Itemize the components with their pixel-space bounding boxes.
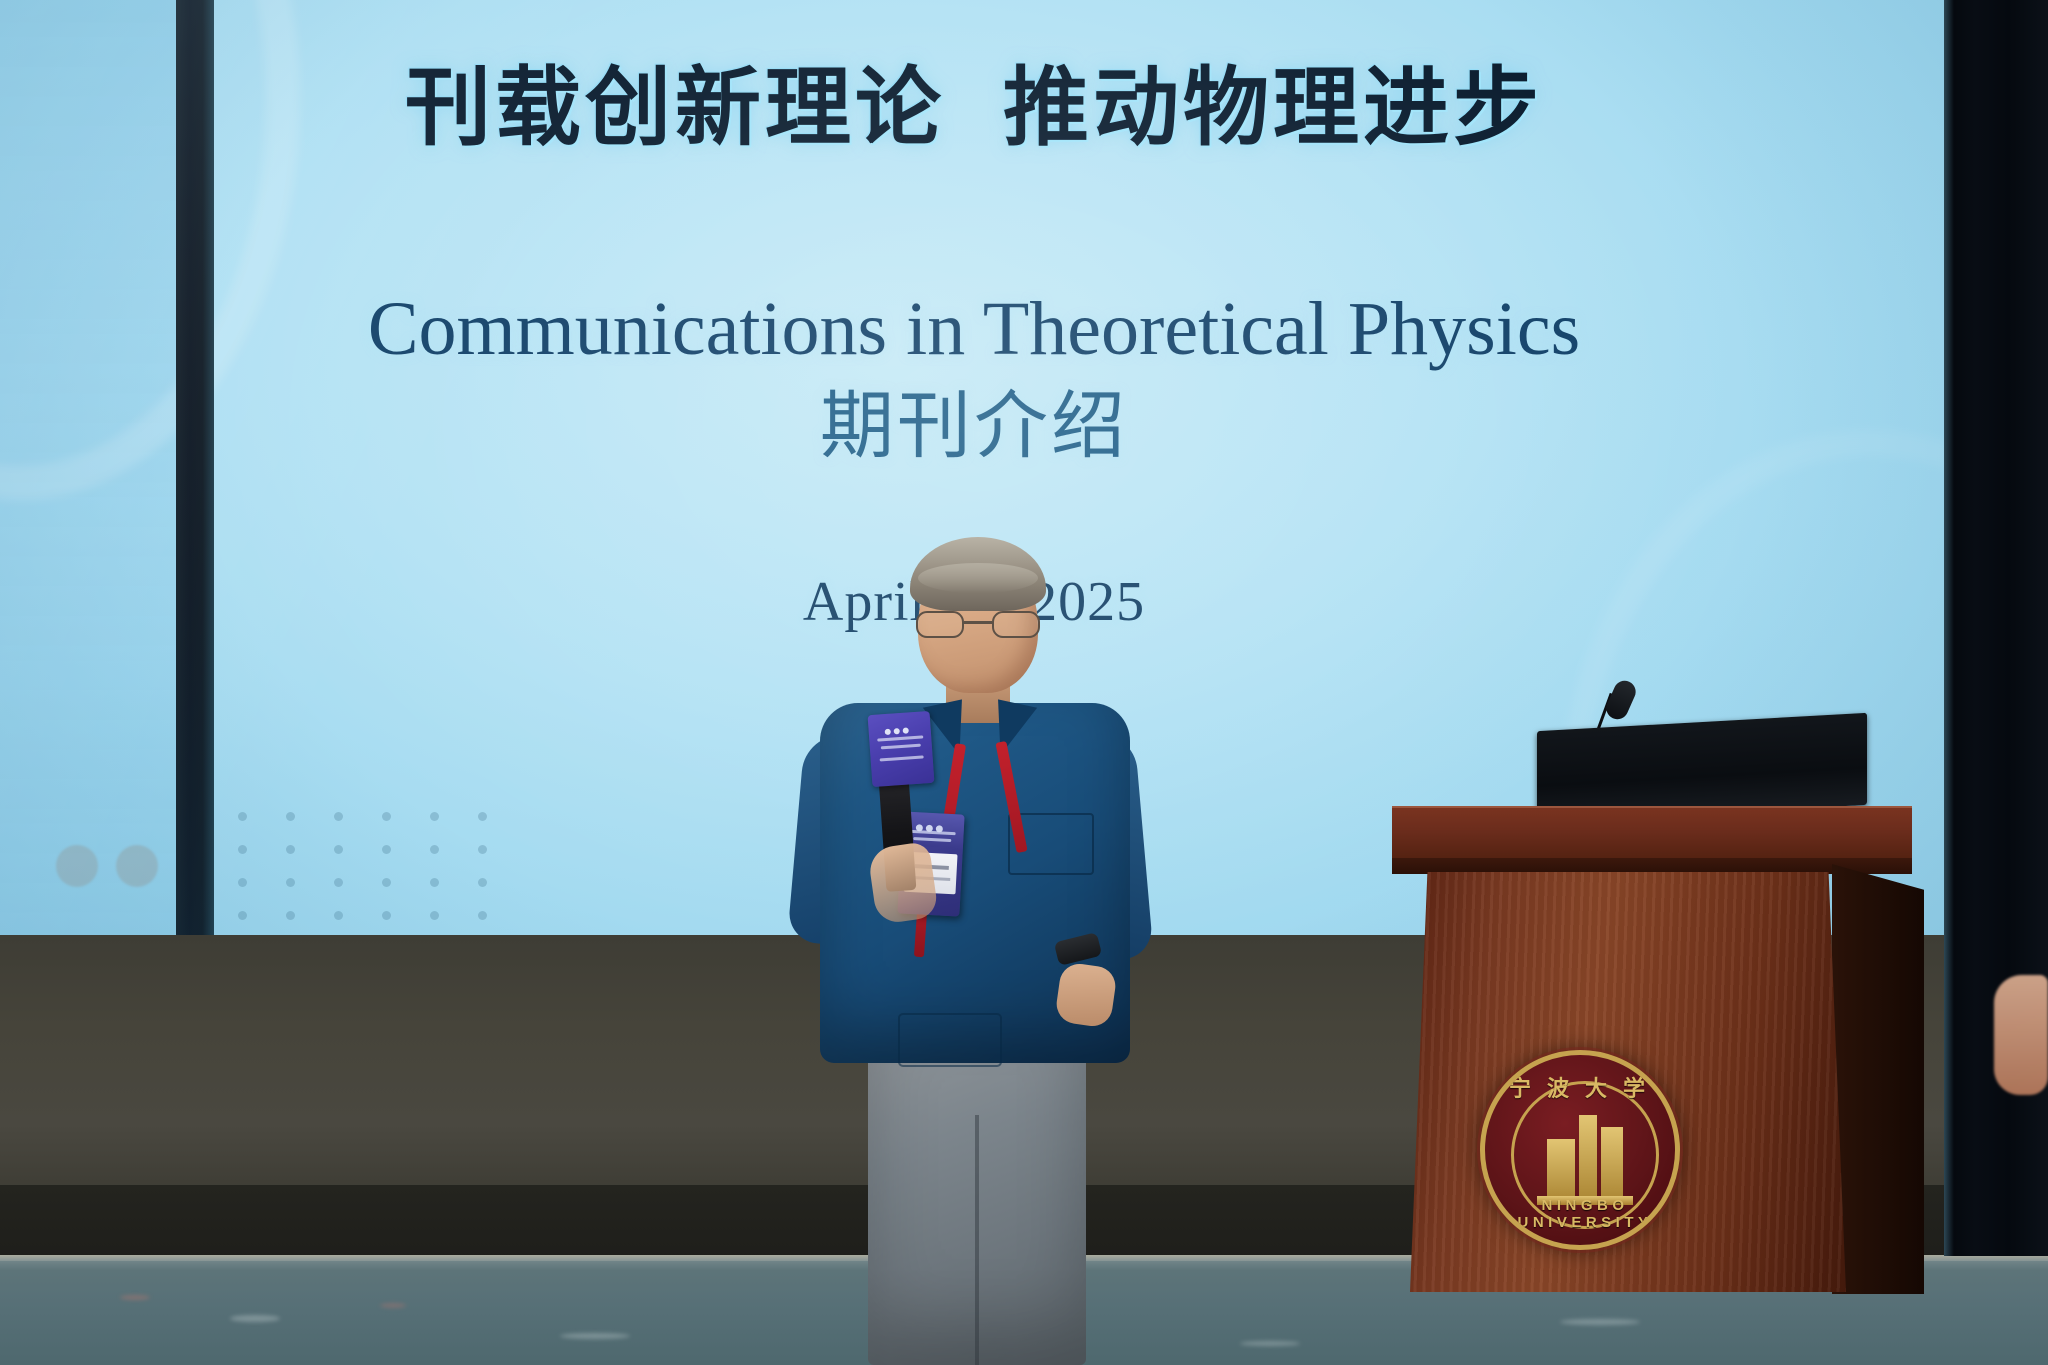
presenter-glasses-icon: [914, 611, 1042, 641]
slide-subtitle-english: Communications in Theoretical Physics: [0, 288, 1948, 372]
presenter-shirt-pocket-lower: [898, 1013, 1002, 1067]
microphone-branding-flag: [868, 711, 935, 787]
conference-photo-scene: 刊载创新理论推动物理进步 Communications in Theoretic…: [0, 0, 2048, 1365]
slide-dot-grid-decoration: [238, 812, 526, 935]
slide-subtitle-chinese: 期刊介绍: [0, 385, 1948, 466]
ningbo-university-emblem-icon: 宁波大学 NINGBO UNIVERSITY: [1480, 1050, 1680, 1250]
emblem-building-glyph: [1547, 1115, 1623, 1201]
emblem-chinese-name: 宁波大学: [1485, 1071, 1680, 1103]
slide-circle-decoration: [56, 845, 176, 892]
badge-title-line-2: [913, 837, 951, 842]
presenter-collar: [930, 703, 1030, 759]
presenter-hair: [910, 537, 1046, 611]
mic-flag-line-3: [880, 755, 924, 761]
slide-headline: 刊载创新理论推动物理进步: [0, 60, 1948, 156]
lectern-podium: 宁波大学 NINGBO UNIVERSITY: [1392, 806, 1922, 1296]
presenter-trousers: [868, 1045, 1086, 1365]
slide-headline-part-2: 推动物理进步: [1003, 60, 1543, 156]
offstage-person-hand: [1994, 975, 2048, 1095]
podium-side-panel: [1832, 864, 1924, 1294]
badge-title-line-1: [910, 830, 956, 835]
presenter-figure: [790, 545, 1160, 1365]
mic-flag-line-2: [881, 744, 921, 750]
emblem-english-name: NINGBO UNIVERSITY: [1485, 1197, 1680, 1231]
badge-logo-dots-icon: [916, 818, 950, 827]
podium-top-surface: [1392, 806, 1912, 864]
slide-headline-part-1: 刊载创新理论: [405, 60, 945, 156]
